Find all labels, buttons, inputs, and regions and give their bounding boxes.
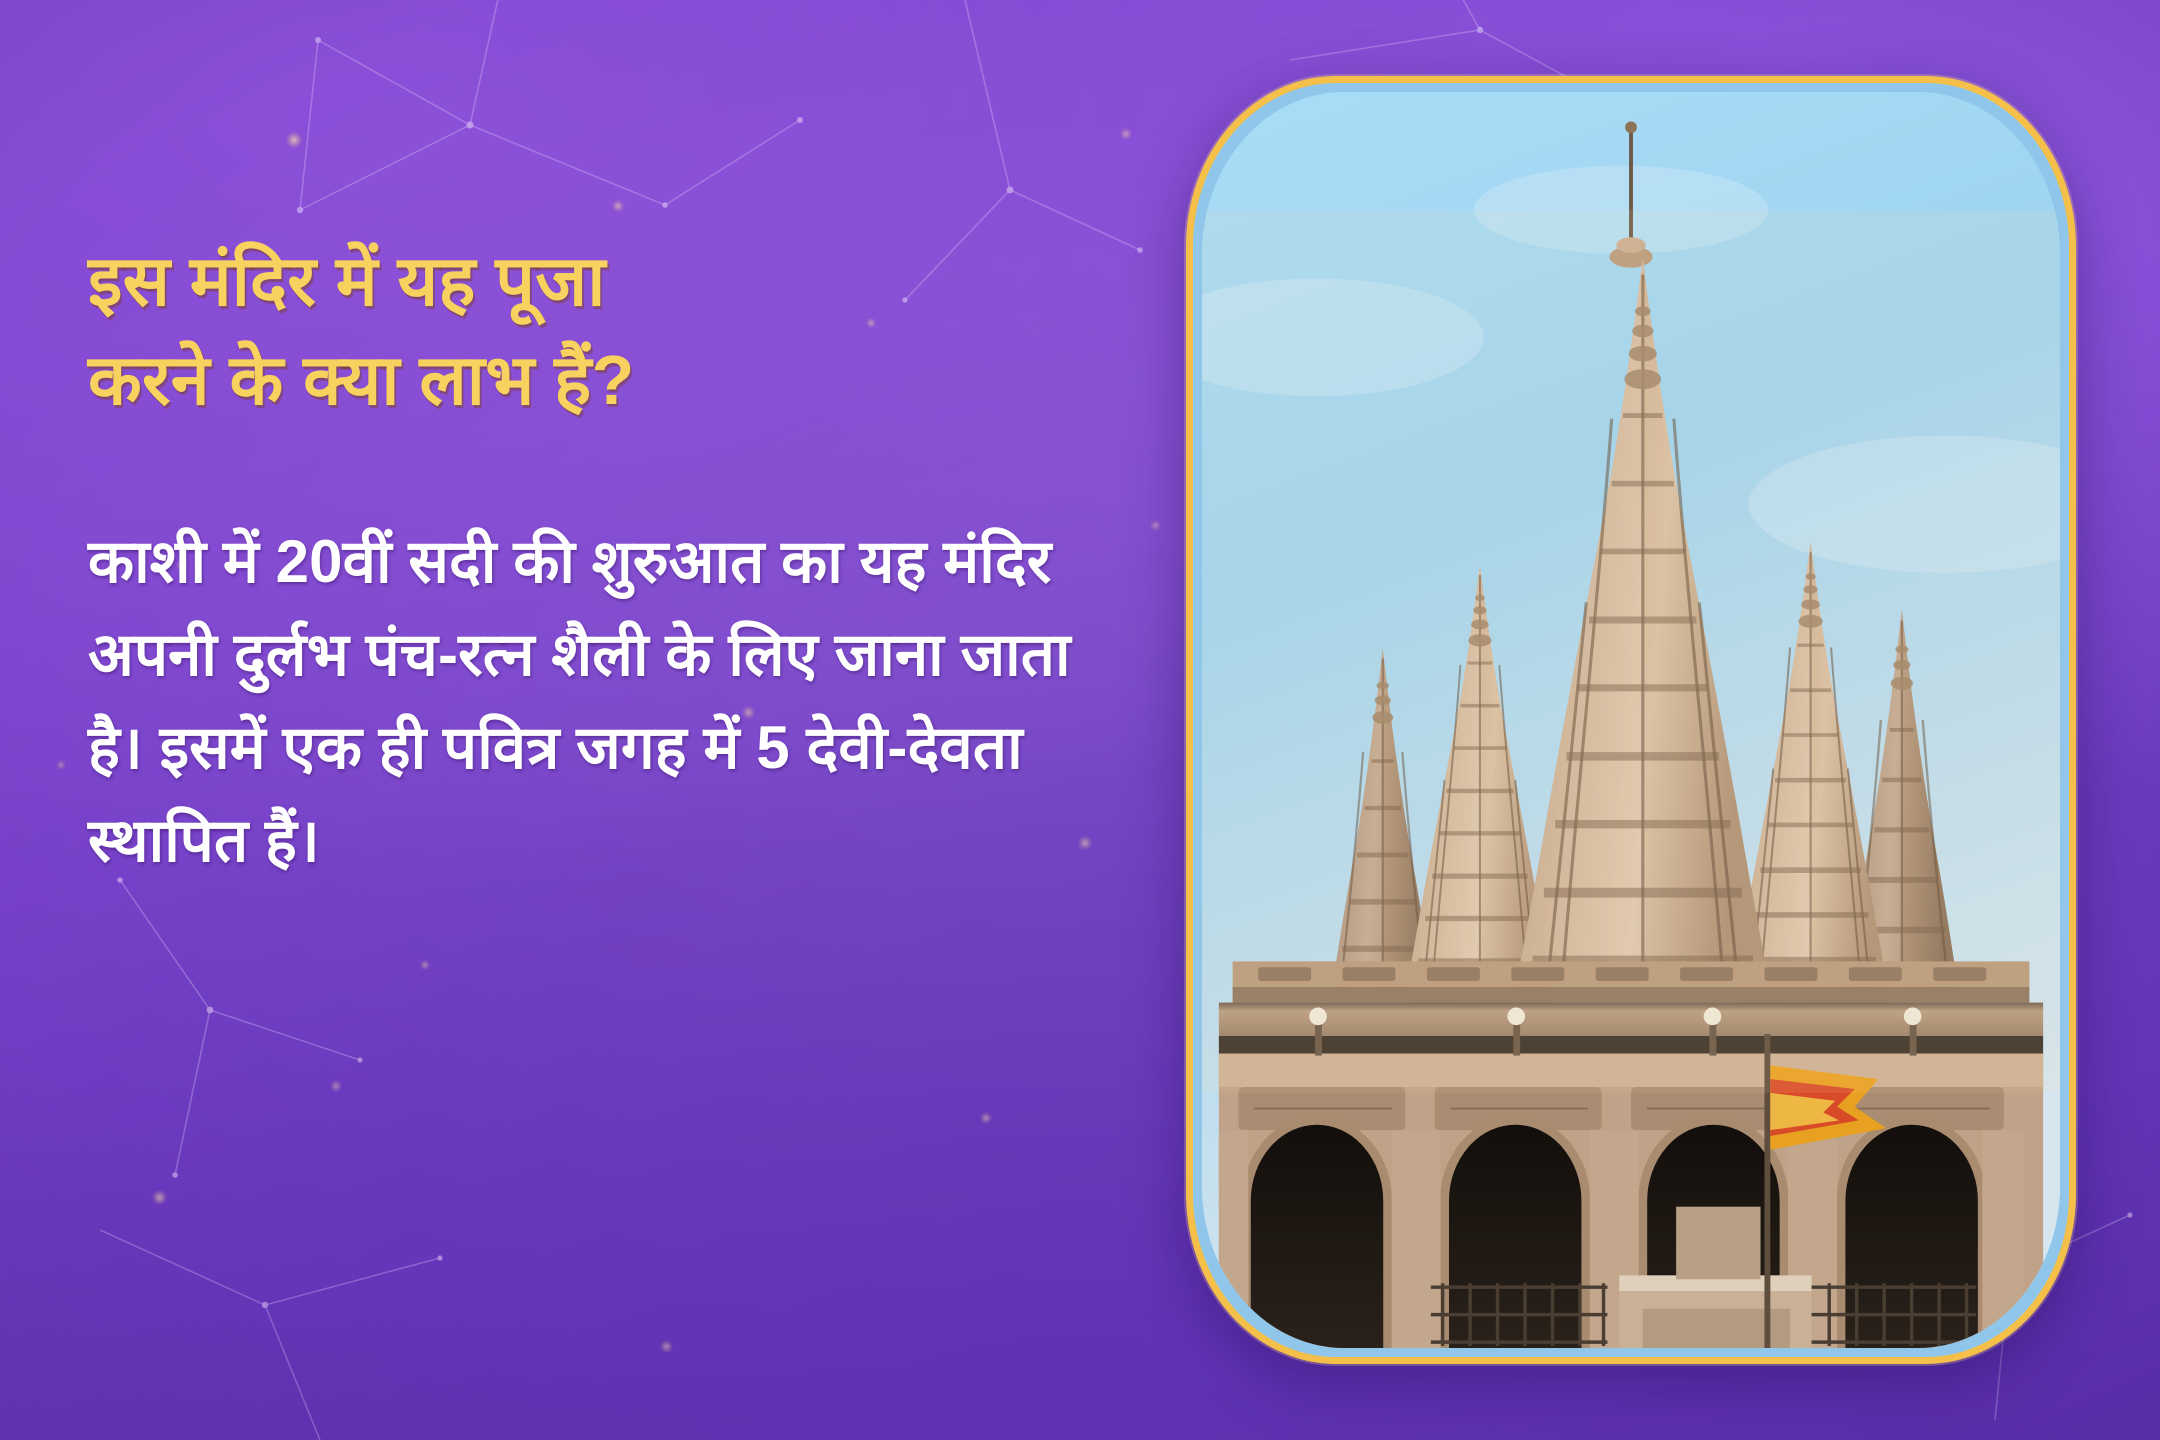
temple-photo — [1202, 92, 2060, 1348]
headline-title: इस मंदिर में यह पूजा करने के क्या लाभ है… — [88, 232, 1088, 431]
poster-canvas: इस मंदिर में यह पूजा करने के क्या लाभ है… — [0, 0, 2160, 1440]
text-column: इस मंदिर में यह पूजा करने के क्या लाभ है… — [88, 232, 1088, 887]
temple-photo-frame — [1186, 76, 2076, 1364]
body-paragraph: काशी में 20वीं सदी की शुरुआत का यह मंदिर… — [88, 515, 1078, 887]
